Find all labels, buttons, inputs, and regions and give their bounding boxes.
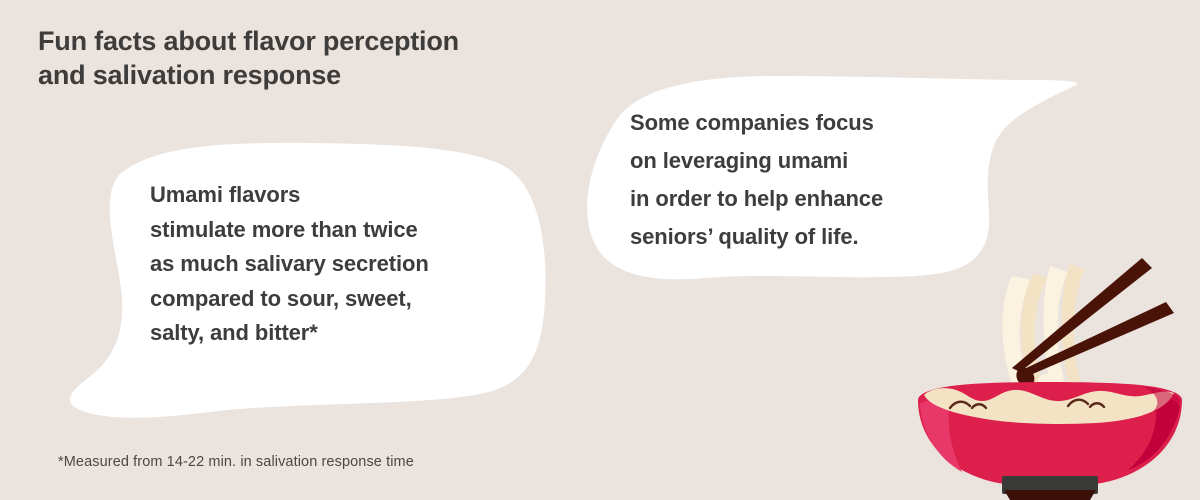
- speech-bubble-umami-salivation-text: Umami flavors stimulate more than twice …: [150, 178, 550, 351]
- speech-bubble-umami-salivation: Umami flavors stimulate more than twice …: [40, 140, 560, 425]
- page-title: Fun facts about flavor perception and sa…: [38, 24, 658, 92]
- bowl-base-icon: [1002, 476, 1098, 500]
- infographic-canvas: Fun facts about flavor perception and sa…: [0, 0, 1200, 500]
- bowl-icon: [918, 382, 1182, 487]
- footnote: *Measured from 14-22 min. in salivation …: [58, 452, 414, 472]
- ramen-bowl-illustration: [900, 180, 1200, 500]
